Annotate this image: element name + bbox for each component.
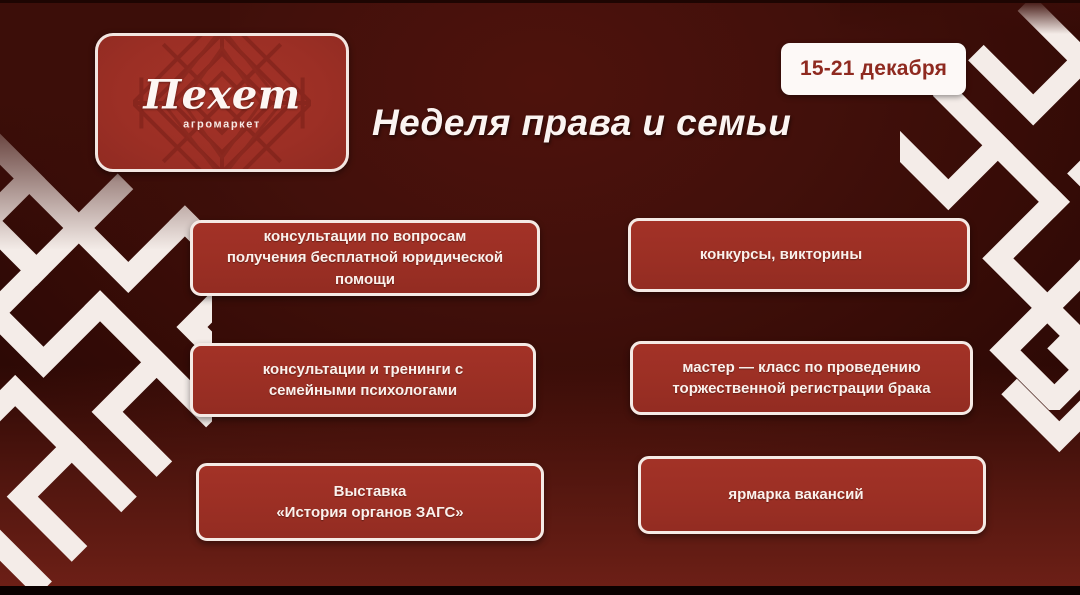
letterbox-bottom: [0, 586, 1080, 595]
event-card-label: мастер — класс по проведению торжественн…: [662, 357, 940, 400]
event-card-label: консультации по вопросам получения беспл…: [217, 226, 513, 290]
event-card[interactable]: ярмарка вакансий: [638, 456, 986, 534]
letterbox-top: [0, 0, 1080, 3]
event-card-label: ярмарка вакансий: [718, 484, 873, 505]
event-card-label: конкурсы, викторины: [690, 244, 872, 265]
date-badge[interactable]: 15-21 декабря: [781, 43, 966, 95]
event-card[interactable]: мастер — класс по проведению торжественн…: [630, 341, 973, 415]
ornament-fade-top-right: [840, 0, 1080, 34]
date-badge-label: 15-21 декабря: [800, 57, 947, 81]
event-card[interactable]: консультации и тренинги с семейными псих…: [190, 343, 536, 417]
event-card[interactable]: консультации по вопросам получения беспл…: [190, 220, 540, 296]
brand-logo-card[interactable]: Пехет агромаркет: [95, 33, 349, 172]
poster-slide: Пехет агромаркет 15-21 декабря Неделя пр…: [0, 0, 1080, 595]
event-card-label: консультации и тренинги с семейными псих…: [253, 359, 474, 402]
event-card-label: Выставка «История органов ЗАГС»: [266, 481, 473, 524]
brand-subtitle: агромаркет: [98, 118, 346, 130]
brand-name: Пехет: [98, 75, 346, 115]
page-title: Неделя права и семьи: [372, 102, 791, 144]
event-card[interactable]: конкурсы, викторины: [628, 218, 970, 292]
event-card[interactable]: Выставка «История органов ЗАГС»: [196, 463, 544, 541]
